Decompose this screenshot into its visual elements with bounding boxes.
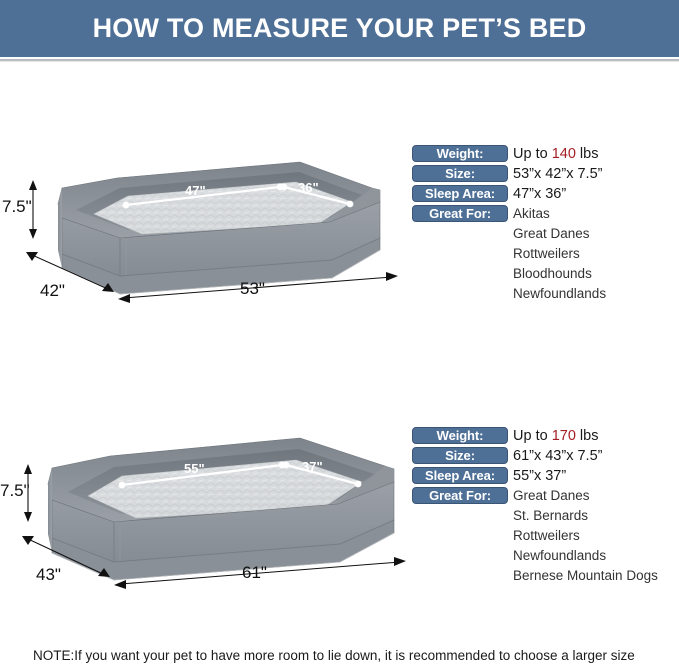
spec-value-sleep-area: 47”x 36” (513, 186, 566, 202)
breed-item: Great Danes (513, 488, 590, 503)
depth-label: 42" (40, 281, 65, 300)
badge-sleep-area: Sleep Area: (412, 467, 508, 484)
bed-illustration: 47" 36" 7.5" 42" (0, 130, 410, 360)
spec-row-sleep-area: Sleep Area: 47”x 36” (412, 184, 679, 203)
breed-item: Great Danes (513, 224, 679, 244)
dimension-height: 7.5" (2, 180, 37, 239)
bed-left-face (58, 188, 62, 268)
width-label: 53" (240, 279, 265, 298)
weight-unit: lbs (576, 428, 599, 444)
breed-item: Akitas (513, 206, 550, 221)
dimension-height: 7.5" (0, 464, 32, 522)
width-label: 61" (242, 563, 267, 582)
spec-row-weight: Weight: Up to 170 lbs (412, 426, 679, 445)
spec-row-size: Size: 53”x 42”x 7.5” (412, 164, 679, 183)
spec-value-weight: Up to 140 lbs (513, 146, 598, 162)
page-title: HOW TO MEASURE YOUR PET’S BED (93, 13, 587, 44)
weight-number: 140 (552, 146, 576, 162)
badge-great-for: Great For: (412, 487, 508, 504)
sleep-length-label: 47" (185, 183, 206, 198)
height-label: 7.5" (0, 481, 30, 500)
spec-value-weight: Up to 170 lbs (513, 428, 598, 444)
weight-prefix: Up to (513, 146, 552, 162)
height-label: 7.5" (2, 197, 32, 216)
breed-item: Bernese Mountain Dogs (513, 566, 679, 586)
badge-sleep-area: Sleep Area: (412, 185, 508, 202)
badge-weight: Weight: (412, 145, 508, 162)
spec-table-large: Weight: Up to 140 lbs Size: 53”x 42”x 7.… (412, 144, 679, 304)
spec-row-weight: Weight: Up to 140 lbs (412, 144, 679, 163)
breed-item: Newfoundlands (513, 284, 679, 304)
badge-size: Size: (412, 165, 508, 182)
badge-weight: Weight: (412, 427, 508, 444)
badge-size: Size: (412, 447, 508, 464)
spec-table-jumbo: Weight: Up to 170 lbs Size: 61”x 43”x 7.… (412, 426, 679, 586)
spec-row-sleep-area: Sleep Area: 55”x 37” (412, 466, 679, 485)
bed-diagram-jumbo: 55" 37" 7.5" 43" (0, 412, 410, 642)
weight-prefix: Up to (513, 428, 552, 444)
product-block-jumbo: 55" 37" 7.5" 43" (0, 412, 679, 642)
spec-row-great-for: Great For: Great Danes (412, 486, 679, 505)
breed-list: Great Danes Rottweilers Bloodhounds Newf… (513, 224, 679, 304)
breed-item: St. Bernards (513, 506, 679, 526)
sleep-width-label: 37" (302, 459, 323, 474)
bed-diagram-large: 47" 36" 7.5" 42" (0, 130, 410, 360)
breed-item: Newfoundlands (513, 546, 679, 566)
product-block-large: 47" 36" 7.5" 42" (0, 130, 679, 360)
bed-illustration: 55" 37" 7.5" 43" (0, 412, 410, 642)
weight-number: 170 (552, 428, 576, 444)
sleep-width-label: 36" (298, 180, 319, 195)
header-banner: HOW TO MEASURE YOUR PET’S BED (0, 0, 679, 57)
header-divider-light (0, 61, 679, 62)
spec-value-sleep-area: 55”x 37” (513, 468, 566, 484)
breed-item: Rottweilers (513, 244, 679, 264)
spec-row-great-for: Great For: Akitas (412, 204, 679, 223)
spec-row-size: Size: 61”x 43”x 7.5” (412, 446, 679, 465)
sleep-length-label: 55" (184, 461, 205, 476)
spec-value-size: 53”x 42”x 7.5” (513, 166, 602, 182)
weight-unit: lbs (576, 146, 599, 162)
spec-value-size: 61”x 43”x 7.5” (513, 448, 602, 464)
footer-note: NOTE:If you want your pet to have more r… (33, 648, 635, 663)
breed-list: St. Bernards Rottweilers Newfoundlands B… (513, 506, 679, 586)
badge-great-for: Great For: (412, 205, 508, 222)
depth-label: 43" (36, 565, 61, 584)
breed-item: Bloodhounds (513, 264, 679, 284)
breed-item: Rottweilers (513, 526, 679, 546)
